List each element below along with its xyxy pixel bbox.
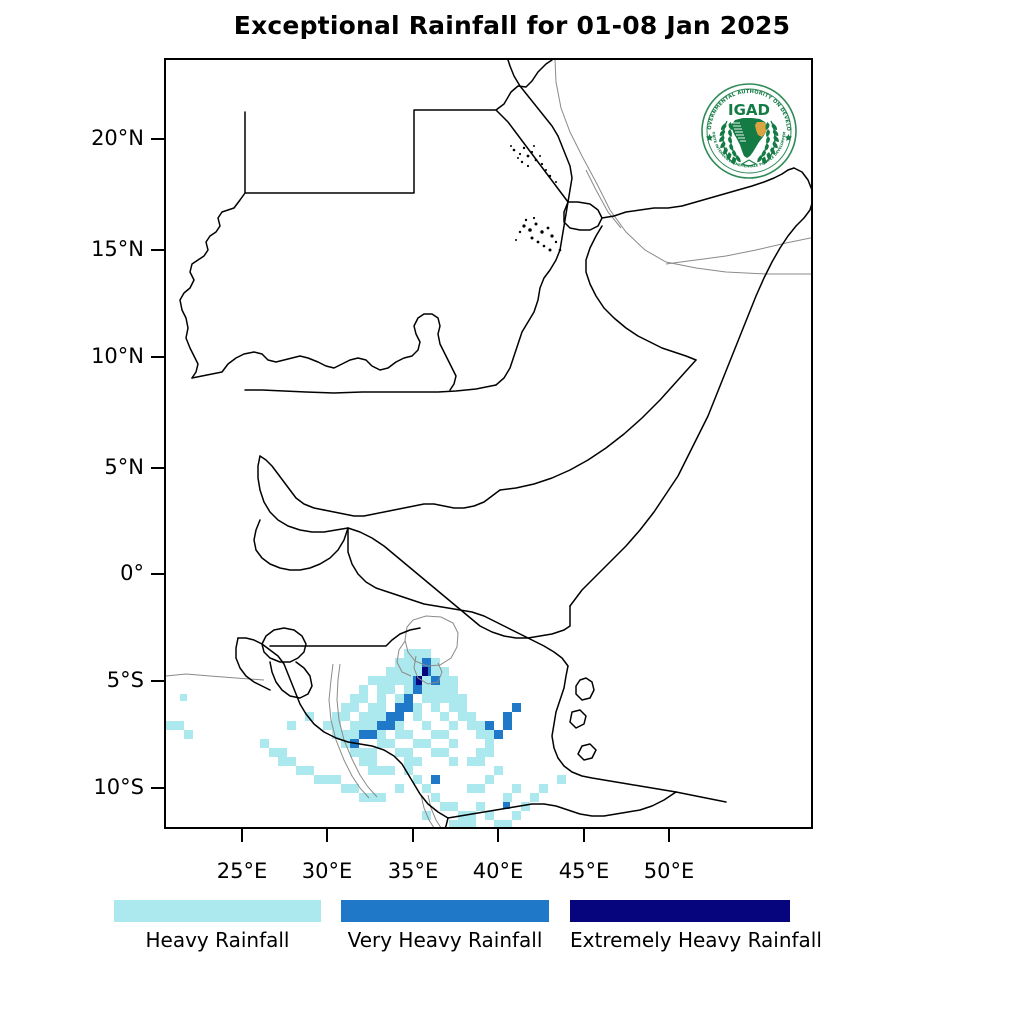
logo-acronym: IGAD xyxy=(728,101,770,119)
x-tick-35e xyxy=(412,829,414,842)
x-tick-50e xyxy=(668,829,670,842)
red-sea-islands xyxy=(510,145,561,252)
x-label-50e: 50°E xyxy=(614,859,724,883)
rainfall-legend: Heavy Rainfall Very Heavy Rainfall Extre… xyxy=(0,900,1024,960)
legend-swatch-very-heavy xyxy=(341,900,549,922)
y-label-15n: 15°N xyxy=(0,237,144,261)
x-tick-25e xyxy=(241,829,243,842)
legend-swatch-heavy xyxy=(114,900,321,922)
y-label-20n: 20°N xyxy=(0,126,144,150)
legend-item-very-heavy[interactable]: Very Heavy Rainfall xyxy=(341,900,549,952)
igad-logo-svg: INTERGOVERNMENTAL AUTHORITY ON DEVELOPME… xyxy=(699,81,799,181)
legend-swatch-extremely-heavy xyxy=(570,900,790,922)
page-title: Exceptional Rainfall for 01-08 Jan 2025 xyxy=(0,11,1024,40)
x-tick-30e xyxy=(326,829,328,842)
y-tick-0 xyxy=(151,573,164,575)
legend-label-very-heavy: Very Heavy Rainfall xyxy=(341,928,549,952)
y-label-5s: 5°S xyxy=(0,668,144,692)
x-tick-45e xyxy=(583,829,585,842)
legend-item-heavy[interactable]: Heavy Rainfall xyxy=(114,900,321,952)
y-tick-20n xyxy=(151,138,164,140)
legend-label-extremely-heavy: Extremely Heavy Rainfall xyxy=(570,928,790,952)
igad-logo: INTERGOVERNMENTAL AUTHORITY ON DEVELOPME… xyxy=(699,81,799,181)
y-tick-5n xyxy=(151,467,164,469)
y-label-10n: 10°N xyxy=(0,344,144,368)
y-label-5n: 5°N xyxy=(0,455,144,479)
y-tick-10n xyxy=(151,356,164,358)
y-tick-10s xyxy=(151,787,164,789)
x-tick-40e xyxy=(497,829,499,842)
legend-label-heavy: Heavy Rainfall xyxy=(114,928,321,952)
y-label-0: 0° xyxy=(0,561,144,585)
y-label-10s: 10°S xyxy=(0,775,144,799)
y-tick-5s xyxy=(151,680,164,682)
legend-item-extremely-heavy[interactable]: Extremely Heavy Rainfall xyxy=(570,900,790,952)
y-tick-15n xyxy=(151,249,164,251)
